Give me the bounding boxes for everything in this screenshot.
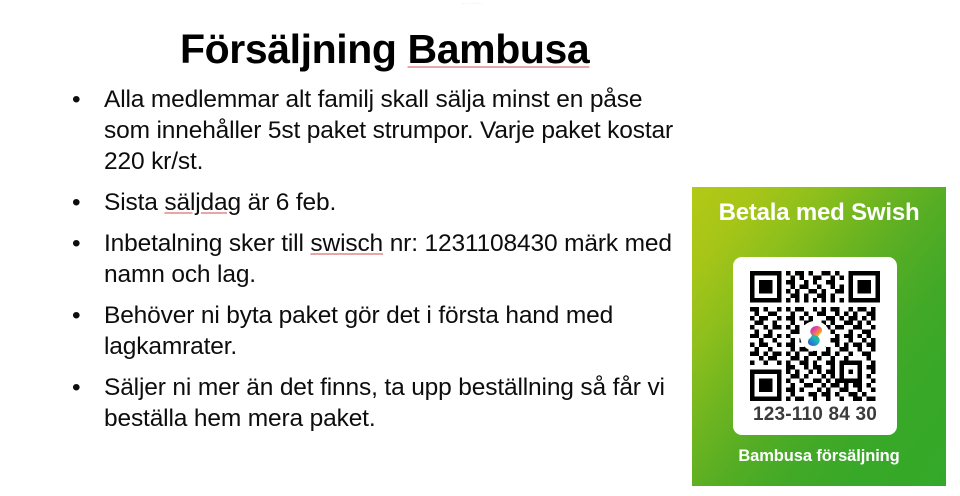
list-item: • Behöver ni byta paket gör det i första… — [68, 300, 678, 362]
list-item: • Säljer ni mer än det finns, ta upp bes… — [68, 372, 678, 434]
bullet-marker: • — [72, 300, 82, 331]
swish-card-heading: Betala med Swish — [692, 199, 946, 227]
text-segment: Inbetalning sker till — [104, 230, 310, 257]
misspelled-word: säljdag — [164, 189, 241, 216]
cropped-text-artifact: ............ — [446, 0, 498, 6]
list-item-text: Sista säljdag är 6 feb. — [104, 187, 678, 218]
page-title-text: Försäljning — [180, 26, 408, 72]
list-item: • Alla medlemmar alt familj skall sälja … — [68, 84, 678, 177]
page-title-misspelled-word: Bambusa — [408, 26, 590, 72]
list-item-text: Säljer ni mer än det finns, ta upp bestä… — [104, 372, 678, 434]
swish-logo-icon — [800, 321, 830, 351]
bullet-marker: • — [72, 187, 82, 218]
bullet-marker: • — [72, 84, 82, 115]
qr-code-icon — [750, 271, 880, 401]
bullet-list: • Alla medlemmar alt familj skall sälja … — [68, 84, 678, 444]
list-item-text: Alla medlemmar alt familj skall sälja mi… — [104, 84, 678, 177]
swish-card-footer: Bambusa försäljning — [692, 447, 946, 466]
slide-canvas: ............ Försäljning Bambusa • Alla … — [0, 0, 960, 496]
list-item-text: Behöver ni byta paket gör det i första h… — [104, 300, 678, 362]
text-segment: Säljer ni mer än det finns, ta upp bestä… — [104, 374, 665, 432]
list-item-text: Inbetalning sker till swisch nr: 1231108… — [104, 228, 678, 290]
bullet-marker: • — [72, 372, 82, 403]
qr-code-panel: 123-110 84 30 — [733, 257, 897, 435]
list-item: • Sista säljdag är 6 feb. — [68, 187, 678, 218]
list-item: • Inbetalning sker till swisch nr: 12311… — [68, 228, 678, 290]
text-segment: Sista — [104, 189, 164, 216]
page-title: Försäljning Bambusa — [180, 26, 589, 73]
swish-number: 123-110 84 30 — [733, 404, 897, 426]
misspelled-word: swisch — [310, 230, 383, 257]
text-segment: Behöver ni byta paket gör det i första h… — [104, 302, 613, 360]
swish-payment-card: Betala med Swish — [692, 187, 946, 486]
text-segment: Alla medlemmar alt familj skall sälja mi… — [104, 86, 673, 175]
text-segment: är 6 feb. — [241, 189, 336, 216]
bullet-marker: • — [72, 228, 82, 259]
